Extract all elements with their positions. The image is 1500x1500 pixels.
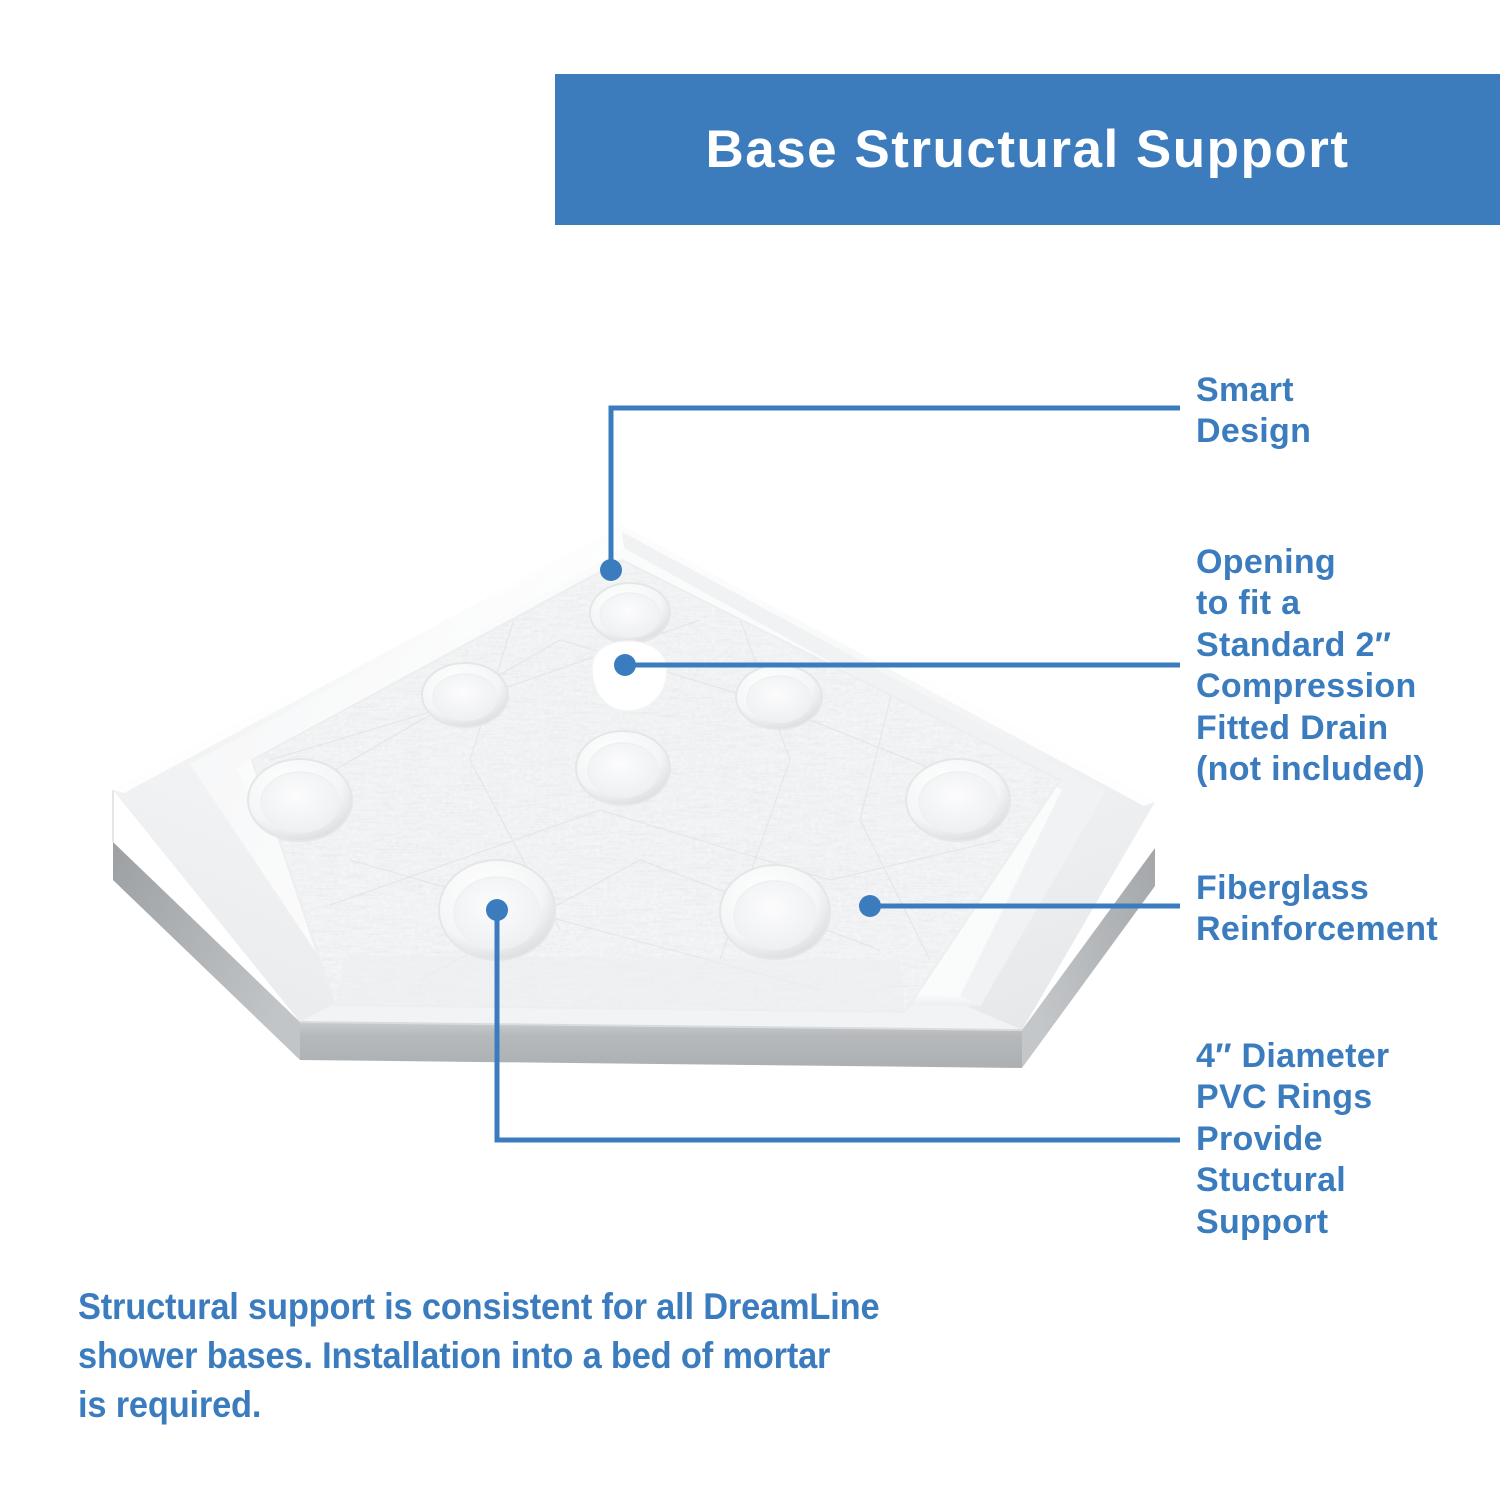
pvc-ring xyxy=(906,759,1010,841)
callout-label-pvc-rings: 4″ Diameter PVC Rings Provide Stuctural … xyxy=(1196,1036,1496,1243)
pvc-ring xyxy=(720,865,830,959)
callout-label-smart-design: Smart Design xyxy=(1196,370,1496,453)
pvc-ring xyxy=(736,665,822,729)
callout-label-fiberglass: Fiberglass Reinforcement xyxy=(1196,868,1496,951)
page-title: Base Structural Support xyxy=(705,123,1349,176)
pvc-ring xyxy=(590,583,670,643)
callout-label-drain-opening: Opening to fit a Standard 2″ Compression… xyxy=(1196,542,1500,791)
pvc-ring xyxy=(439,860,555,960)
pvc-ring xyxy=(576,731,670,805)
title-banner: Base Structural Support xyxy=(555,74,1500,225)
footer-note: Structural support is consistent for all… xyxy=(78,1283,943,1429)
pvc-ring xyxy=(422,663,508,727)
drain-opening xyxy=(592,641,667,711)
pvc-ring xyxy=(248,759,352,841)
diagram-canvas: Base Structural Support Smart Design Ope… xyxy=(0,0,1500,1500)
